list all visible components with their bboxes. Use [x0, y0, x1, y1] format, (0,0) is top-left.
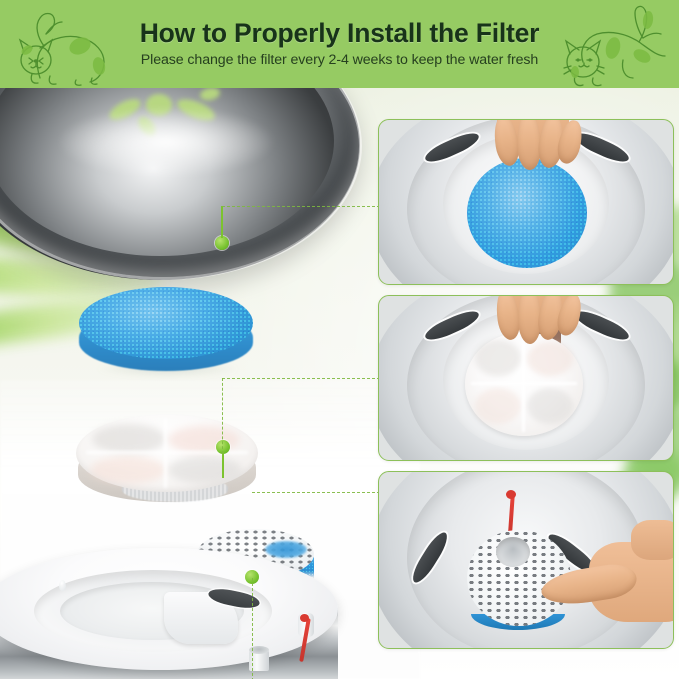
cotton-quadrant [168, 456, 242, 484]
connector-line-step3 [252, 492, 390, 493]
red-straw-tip [300, 614, 309, 622]
connector-line-step1 [222, 206, 390, 207]
cap-center-hole [496, 537, 530, 567]
step-2-photo-panel [378, 295, 674, 461]
blue-sponge-texture [467, 158, 587, 268]
panel-2-scene [379, 296, 673, 460]
cotton-quadrant [475, 340, 521, 376]
cotton-seam [471, 382, 577, 385]
thumb [631, 520, 674, 560]
cotton-filter-in-bowl [465, 332, 583, 436]
panel-3-scene [379, 472, 673, 648]
connector-line-step2 [222, 378, 390, 379]
page-title: How to Properly Install the Filter [140, 20, 540, 48]
cotton-top [76, 414, 258, 492]
cotton-quadrant [90, 456, 166, 484]
sponge-texture [79, 287, 253, 359]
cotton-quadrant [527, 388, 573, 424]
red-straw-tip [506, 490, 516, 499]
connector-stem-sponge [221, 206, 223, 238]
connector-line-step3-vertical [252, 578, 253, 679]
panel-1-scene [379, 120, 673, 284]
blue-sponge-filter [79, 287, 253, 373]
cotton-quadrant [475, 388, 521, 424]
header-banner: How to Properly Install the Filter Pleas… [0, 0, 679, 88]
cotton-quadrant [92, 424, 166, 454]
connector-stem-cotton [222, 452, 224, 478]
water-droplet [59, 580, 66, 591]
cat-lounging-icon [553, 4, 677, 88]
step-3-photo-panel [378, 471, 674, 649]
page-subtitle: Please change the filter every 2-4 weeks… [141, 53, 538, 69]
white-cotton-filter [76, 414, 258, 510]
step-1-photo-panel [378, 119, 674, 285]
connector-line-step2-vertical [222, 378, 223, 454]
bowl-rim [0, 88, 362, 280]
cotton-quadrant [527, 342, 573, 376]
infographic-page: How to Properly Install the Filter Pleas… [0, 0, 679, 679]
connector-pin-sponge [215, 236, 229, 250]
stainless-steel-bowl [0, 88, 360, 280]
